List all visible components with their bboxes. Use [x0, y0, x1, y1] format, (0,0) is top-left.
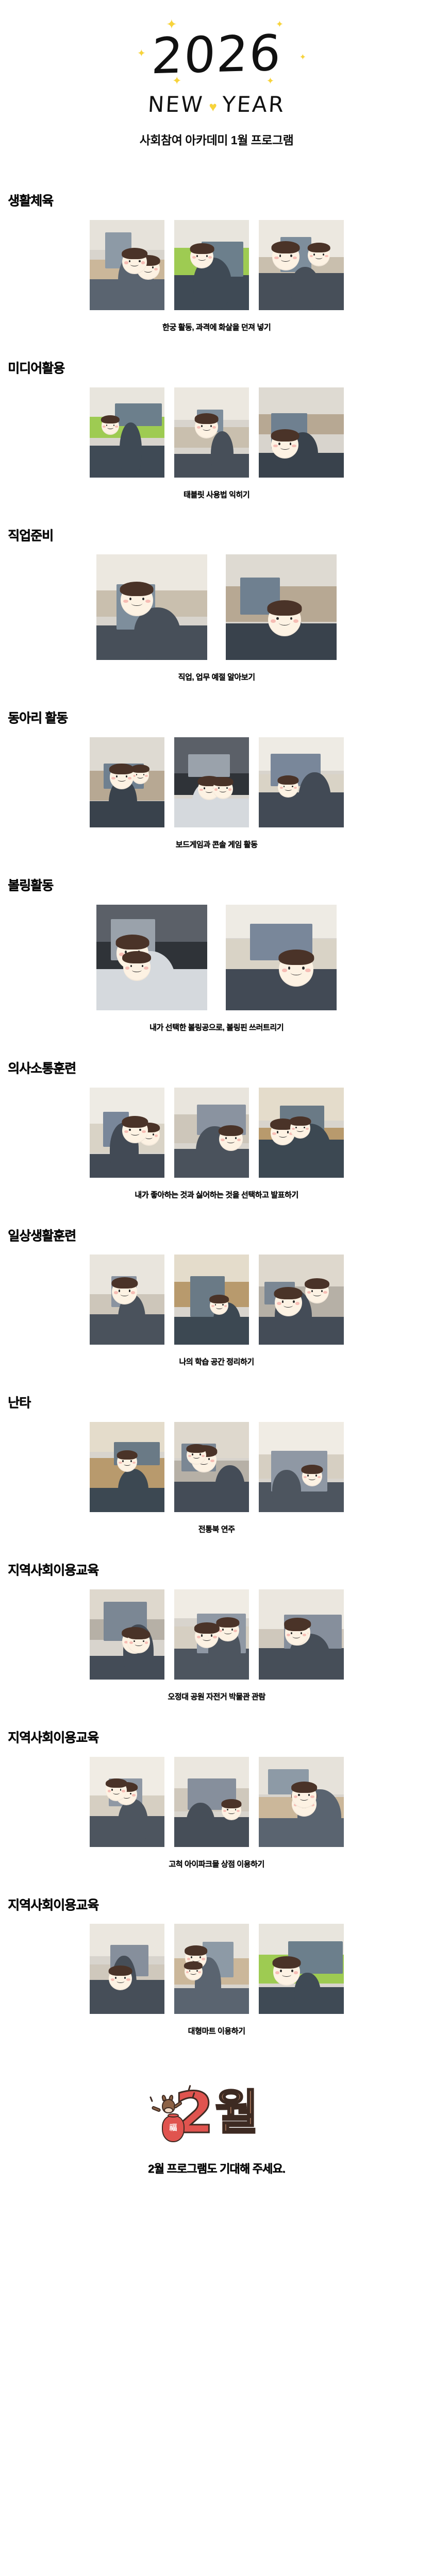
- activity-photo: [174, 1088, 249, 1178]
- face-cheek: [188, 1455, 191, 1457]
- face-eye: [302, 967, 305, 970]
- face-cheek: [292, 1128, 295, 1130]
- face-eye: [126, 775, 127, 777]
- face-eye: [189, 1970, 190, 1972]
- photo-object: [188, 754, 230, 777]
- section-spacer: [0, 1702, 433, 1719]
- face-eye: [152, 266, 154, 268]
- anonymized-face-icon: [285, 1623, 308, 1646]
- section-caption: 보드게임과 콘솔 게임 활동: [0, 839, 433, 850]
- face-eye: [201, 425, 203, 427]
- face-cheek: [293, 619, 298, 623]
- activity-photo: [90, 1589, 164, 1680]
- anonymized-face-icon: [123, 953, 151, 981]
- photo-row: [0, 1924, 433, 2014]
- section-spacer: [0, 1869, 433, 1887]
- face-eye: [142, 965, 144, 968]
- activity-photo: [259, 1589, 344, 1680]
- photo-person-silhouette: [120, 422, 142, 478]
- face-cheek: [144, 967, 148, 970]
- face-cheek: [305, 969, 311, 972]
- activity-photo: [259, 1422, 344, 1512]
- face-eye: [129, 260, 130, 262]
- face-eye: [225, 1137, 227, 1139]
- face-cheek: [275, 1971, 279, 1974]
- page-header: ✦ ✦ ✦ ✦ ✦ ✦ 2026 NEW ♥ YEAR 사회참여 아카데미 1월…: [0, 0, 433, 185]
- activity-photo: [90, 1422, 164, 1512]
- anonymized-face-icon: [112, 1279, 137, 1304]
- face-cheek: [294, 1795, 298, 1798]
- face-cheek: [124, 261, 128, 264]
- section-spacer: [0, 850, 433, 867]
- activity-photo: [90, 1757, 164, 1847]
- face-cheek: [277, 1302, 281, 1305]
- program-section: 미디어활용태블릿 사용법 익히기: [0, 353, 433, 520]
- section-title: 지역사회이용교육: [8, 1555, 433, 1578]
- program-section: 직업준비직업, 업무 예절 알아보기: [0, 520, 433, 703]
- face-cheek: [103, 426, 106, 428]
- face-eye: [276, 617, 279, 620]
- section-spacer: [0, 500, 433, 517]
- page-footer: 福 2 월 2월 프로그램도 기대해 주세요.: [0, 2057, 433, 2197]
- activity-photo: [96, 554, 207, 660]
- face-cheek: [318, 1476, 321, 1478]
- activity-photo: [96, 905, 207, 1010]
- face-eye: [290, 443, 292, 445]
- anonymized-face-icon: [216, 1619, 239, 1642]
- face-eye: [196, 255, 198, 257]
- face-cheek: [132, 1794, 136, 1797]
- photo-row: [0, 220, 433, 310]
- face-eye: [222, 1629, 224, 1631]
- face-eye: [290, 617, 293, 620]
- face-eye: [226, 787, 228, 789]
- face-eye: [111, 1789, 113, 1791]
- photo-person-silhouette: [291, 267, 320, 310]
- face-eye: [215, 1304, 216, 1306]
- face-cheek: [128, 777, 131, 779]
- face-cheek: [131, 1291, 135, 1294]
- face-cheek: [237, 1139, 241, 1141]
- face-cheek: [282, 969, 288, 972]
- activity-photo: [226, 905, 337, 1010]
- photo-row: [0, 1088, 433, 1178]
- photo-row: [0, 905, 433, 1010]
- activity-photo: [90, 1255, 164, 1345]
- face-cheek: [145, 600, 151, 603]
- activity-photo: [259, 1255, 344, 1345]
- anonymized-face-icon: [292, 1784, 317, 1808]
- anonymized-face-icon: [268, 603, 302, 637]
- face-eye: [222, 1304, 224, 1306]
- face-eye: [278, 443, 280, 445]
- anonymized-face-icon: [308, 244, 330, 266]
- face-cheek: [202, 1455, 205, 1457]
- section-caption: 오정대 공원 자전거 박물관 관람: [0, 1691, 433, 1702]
- program-section: 동아리 활동보드게임과 콘솔 게임 활동: [0, 703, 433, 870]
- program-section: 볼링활동내가 선택한 볼링공으로, 볼링핀 쓰러트리기: [0, 870, 433, 1053]
- face-cheek: [306, 1128, 309, 1130]
- anonymized-face-icon: [275, 1289, 302, 1316]
- face-cheek: [199, 789, 203, 791]
- activity-photo: [174, 1255, 249, 1345]
- activity-photo: [174, 220, 249, 310]
- activity-photo: [259, 1924, 344, 2014]
- face-cheek: [293, 257, 297, 260]
- face-cheek: [212, 426, 216, 429]
- face-cheek: [223, 1810, 226, 1812]
- face-eye: [315, 1475, 317, 1477]
- activity-photo: [90, 1088, 164, 1178]
- section-caption: 직업, 업무 예절 알아보기: [0, 671, 433, 682]
- section-title: 지역사회이용교육: [8, 1890, 433, 1913]
- section-title: 일상생활훈련: [8, 1221, 433, 1244]
- anonymized-face-icon: [272, 243, 299, 270]
- year-word: YEAR: [222, 92, 286, 117]
- anonymized-face-icon: [190, 245, 213, 268]
- face-cheek: [108, 1790, 111, 1792]
- face-cheek: [202, 1958, 205, 1960]
- photo-row: [0, 1255, 433, 1345]
- face-eye: [291, 1970, 293, 1972]
- face-eye: [287, 1131, 289, 1133]
- face-eye: [206, 255, 208, 257]
- face-cheek: [208, 256, 212, 259]
- face-cheek: [197, 1636, 201, 1638]
- photo-row: [0, 1589, 433, 1680]
- face-cheek: [122, 1790, 125, 1792]
- photo-person-silhouette: [272, 1470, 301, 1512]
- face-eye: [277, 1131, 278, 1133]
- face-cheek: [186, 1971, 189, 1973]
- footer-note: 2월 프로그램도 기대해 주세요.: [148, 2160, 285, 2176]
- program-section: 의사소통훈련내가 좋아하는 것과 싫어하는 것을 선택하고 발표하기: [0, 1053, 433, 1221]
- anonymized-face-icon: [279, 952, 313, 987]
- face-cheek: [198, 1971, 201, 1973]
- face-cheek: [325, 255, 328, 258]
- face-eye: [321, 1290, 323, 1292]
- anonymized-face-icon: [122, 1118, 147, 1143]
- anonymized-face-icon: [121, 584, 153, 616]
- face-cheek: [273, 445, 277, 448]
- face-eye: [298, 1794, 299, 1796]
- month-syllable: 월: [215, 2089, 259, 2137]
- face-eye: [139, 1129, 141, 1131]
- face-eye: [120, 1789, 122, 1791]
- face-eye: [201, 1634, 203, 1636]
- section-title: 난타: [8, 1387, 433, 1411]
- face-cheek: [224, 1305, 227, 1307]
- face-cheek: [132, 1462, 136, 1464]
- face-eye: [235, 1809, 237, 1810]
- anonymized-face-icon: [278, 777, 298, 798]
- face-eye: [288, 967, 291, 970]
- anonymized-face-icon: [271, 431, 298, 459]
- activity-photo: [259, 220, 344, 310]
- face-cheek: [141, 261, 145, 264]
- face-cheek: [210, 1460, 214, 1462]
- face-eye: [301, 1632, 302, 1634]
- anonymized-face-icon: [185, 1963, 203, 1981]
- program-section: 지역사회이용교육대형마트 이용하기: [0, 1890, 433, 2057]
- face-eye: [143, 1640, 144, 1642]
- face-eye: [142, 598, 144, 601]
- face-cheek: [323, 1291, 327, 1294]
- anonymized-face-icon: [273, 1958, 301, 1986]
- face-cheek: [213, 1636, 216, 1638]
- face-cheek: [292, 445, 296, 448]
- face-cheek: [123, 600, 128, 603]
- heart-icon: ♥: [209, 100, 216, 113]
- face-eye: [292, 786, 293, 788]
- face-eye: [153, 1133, 154, 1136]
- face-cheek: [271, 619, 276, 623]
- anonymized-face-icon: [290, 1118, 311, 1139]
- section-title: 볼링활동: [8, 870, 433, 893]
- activity-photo: [90, 220, 164, 310]
- face-eye: [113, 425, 114, 426]
- section-caption: 대형마트 이용하기: [0, 2025, 433, 2036]
- photo-row: [0, 1757, 433, 1847]
- anonymized-face-icon: [109, 1967, 132, 1990]
- face-eye: [313, 253, 315, 256]
- program-section: 생활체육한궁 활동, 과격에 화살을 던져 넣기: [0, 185, 433, 353]
- face-eye: [293, 1300, 295, 1303]
- face-cheek: [125, 967, 130, 970]
- activity-photo: [174, 1422, 249, 1512]
- face-cheek: [187, 1958, 191, 1960]
- year-text: 2026: [151, 28, 283, 81]
- face-cheek: [228, 788, 231, 790]
- fortune-character: 福: [169, 2122, 177, 2133]
- section-caption: 전통북 연주: [0, 1523, 433, 1534]
- face-cheek: [111, 1978, 114, 1981]
- face-cheek: [115, 426, 118, 428]
- face-eye: [210, 425, 212, 427]
- photo-row: [0, 737, 433, 827]
- section-title: 생활체육: [8, 185, 433, 209]
- face-cheek: [287, 1634, 290, 1636]
- photo-row: [0, 1422, 433, 1512]
- anonymized-face-icon: [187, 1446, 206, 1465]
- anonymized-face-icon: [110, 765, 134, 789]
- face-cheek: [192, 256, 196, 259]
- face-eye: [284, 786, 285, 788]
- face-cheek: [310, 1795, 314, 1798]
- horse-arm-right: [173, 2101, 183, 2109]
- activity-photo: [259, 387, 344, 478]
- program-section: 일상생활훈련나의 학습 공간 정리하기: [0, 1221, 433, 1388]
- page-subtitle: 사회참여 아카데미 1월 프로그램: [140, 130, 294, 148]
- face-eye: [208, 1458, 210, 1460]
- section-spacer: [0, 682, 433, 700]
- face-eye: [307, 1475, 309, 1477]
- face-cheek: [211, 1305, 214, 1307]
- activity-photo: [259, 1757, 344, 1847]
- photo-person-silhouette: [118, 1469, 148, 1512]
- activity-photo: [259, 737, 344, 827]
- photo-object: [115, 403, 162, 426]
- activity-photo: [174, 1757, 249, 1847]
- anonymized-face-icon: [117, 1452, 137, 1472]
- anonymized-face-icon: [131, 766, 149, 784]
- face-cheek: [221, 1139, 224, 1141]
- face-cheek: [124, 1130, 128, 1133]
- face-cheek: [114, 1291, 118, 1294]
- face-cheek: [111, 777, 115, 779]
- face-cheek: [274, 257, 278, 260]
- photo-person-silhouette: [118, 1799, 148, 1847]
- activity-photo: [174, 737, 249, 827]
- face-eye: [124, 1977, 126, 1979]
- face-eye: [279, 255, 281, 257]
- activity-photo: [90, 1924, 164, 2014]
- photo-person-silhouette: [186, 1803, 215, 1847]
- new-word: NEW: [147, 92, 205, 117]
- activity-photo: [90, 387, 164, 478]
- face-eye: [191, 1956, 192, 1958]
- february-graphic: 福 2 월: [139, 2074, 294, 2151]
- photo-row: [0, 554, 433, 660]
- section-spacer: [0, 1534, 433, 1552]
- face-cheek: [295, 1302, 299, 1305]
- activity-photo: [174, 387, 249, 478]
- anonymized-face-icon: [127, 1631, 150, 1653]
- program-section: 지역사회이용교육오정대 공원 자전거 박물관 관람: [0, 1555, 433, 1722]
- face-cheek: [129, 1641, 133, 1644]
- section-spacer: [0, 1200, 433, 1217]
- program-section: 난타전통북 연주: [0, 1387, 433, 1555]
- face-eye: [199, 1453, 201, 1455]
- section-title: 동아리 활동: [8, 703, 433, 726]
- face-cheek: [214, 788, 218, 790]
- year-graphic: ✦ ✦ ✦ ✦ ✦ ✦ 2026: [119, 8, 314, 101]
- activity-photo: [259, 1088, 344, 1178]
- face-cheek: [304, 1476, 307, 1478]
- section-spacer: [0, 332, 433, 350]
- face-eye: [199, 1956, 201, 1958]
- section-title: 직업준비: [8, 520, 433, 544]
- sparkle-star-icon: ✦: [137, 48, 146, 59]
- face-eye: [218, 787, 220, 789]
- face-cheek: [119, 1462, 122, 1464]
- section-caption: 태블릿 사용법 익히기: [0, 489, 433, 500]
- program-sections: 생활체육한궁 활동, 과격에 화살을 던져 넣기미디어활용태블릿 사용법 익히기…: [0, 185, 433, 2057]
- section-caption: 한궁 활동, 과격에 화살을 던져 넣기: [0, 321, 433, 332]
- horse-mascot-icon: [158, 2096, 184, 2120]
- activity-photo: [174, 1589, 249, 1680]
- program-section: 지역사회이용교육고척 아이파크몰 상점 이용하기: [0, 1722, 433, 1890]
- horse-arm-left: [151, 2106, 161, 2112]
- face-eye: [290, 255, 292, 257]
- face-eye: [130, 1793, 131, 1795]
- photo-person-silhouette: [215, 1465, 245, 1512]
- face-eye: [130, 965, 132, 968]
- section-caption: 내가 선택한 볼링공으로, 볼링핀 쓰러트리기: [0, 1022, 433, 1032]
- face-eye: [106, 425, 107, 426]
- face-cheek: [280, 787, 283, 789]
- face-cheek: [294, 787, 297, 789]
- section-title: 미디어활용: [8, 353, 433, 376]
- face-cheek: [234, 1630, 237, 1632]
- face-eye: [119, 1290, 120, 1292]
- anonymized-face-icon: [195, 415, 218, 438]
- anonymized-face-icon: [222, 1801, 241, 1820]
- face-eye: [116, 775, 118, 777]
- anonymized-face-icon: [213, 779, 233, 799]
- section-spacer: [0, 1367, 433, 1384]
- face-eye: [115, 1977, 116, 1979]
- activity-photo: [174, 1924, 249, 2014]
- face-eye: [122, 1460, 124, 1462]
- face-eye: [192, 1453, 193, 1455]
- face-cheek: [197, 426, 201, 429]
- section-spacer: [0, 1032, 433, 1050]
- face-cheek: [237, 1810, 240, 1812]
- face-eye: [130, 1460, 132, 1462]
- face-cheek: [155, 1134, 158, 1137]
- anonymized-face-icon: [122, 250, 147, 275]
- face-cheek: [310, 255, 313, 258]
- face-cheek: [294, 1971, 298, 1974]
- face-eye: [211, 1634, 212, 1636]
- face-eye: [227, 1809, 228, 1810]
- face-cheek: [303, 1634, 306, 1636]
- face-eye: [282, 1300, 284, 1303]
- photo-person-silhouette: [211, 431, 234, 477]
- face-eye: [129, 1129, 130, 1131]
- section-caption: 고척 아이파크몰 상점 이용하기: [0, 1858, 433, 1869]
- section-title: 의사소통훈련: [8, 1053, 433, 1076]
- face-cheek: [272, 1132, 276, 1135]
- face-eye: [143, 774, 144, 775]
- activity-photo: [90, 737, 164, 827]
- face-eye: [139, 260, 140, 262]
- face-eye: [235, 1137, 237, 1139]
- anonymized-face-icon: [219, 1127, 243, 1151]
- face-eye: [129, 598, 131, 601]
- face-eye: [304, 1127, 305, 1129]
- photo-person-silhouette: [298, 772, 331, 827]
- face-eye: [311, 1290, 313, 1292]
- face-eye: [231, 1629, 233, 1631]
- section-title: 지역사회이용교육: [8, 1722, 433, 1745]
- face-eye: [308, 1794, 310, 1796]
- face-eye: [295, 1127, 297, 1129]
- section-caption: 내가 좋아하는 것과 싫어하는 것을 선택하고 발표하기: [0, 1189, 433, 1200]
- face-eye: [204, 787, 205, 789]
- face-eye: [129, 1290, 130, 1292]
- sparkle-star-icon: ✦: [299, 54, 306, 62]
- face-cheek: [154, 268, 158, 270]
- photo-row: [0, 387, 433, 478]
- face-cheek: [145, 775, 148, 777]
- face-cheek: [307, 1291, 311, 1294]
- face-eye: [196, 1970, 197, 1972]
- face-cheek: [145, 1641, 148, 1644]
- section-caption: 나의 학습 공간 정리하기: [0, 1356, 433, 1367]
- face-eye: [134, 1640, 135, 1642]
- anonymized-face-icon: [106, 1780, 127, 1801]
- face-eye: [291, 1632, 292, 1634]
- face-cheek: [126, 1978, 130, 1981]
- activity-photo: [226, 554, 337, 660]
- section-spacer: [0, 2036, 433, 2054]
- face-eye: [136, 774, 137, 775]
- face-cheek: [142, 1130, 146, 1133]
- face-eye: [323, 253, 324, 256]
- motion-dash-icon: [149, 2096, 153, 2102]
